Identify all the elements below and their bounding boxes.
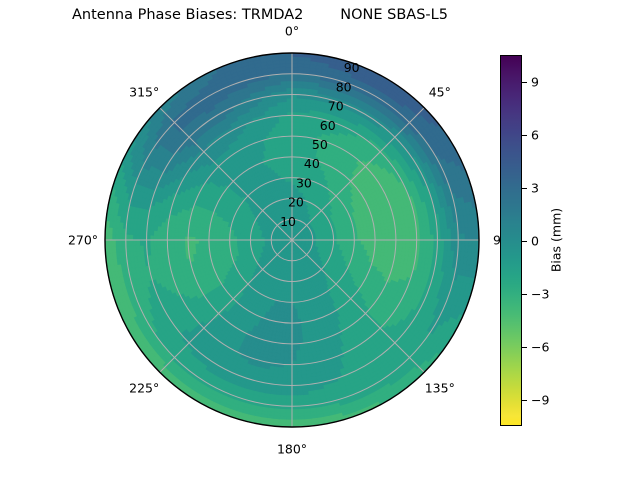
colorbar-tick-label: 9 — [531, 74, 539, 89]
colorbar-tick-label: −6 — [531, 339, 549, 354]
colorbar-tick-mark — [522, 241, 527, 242]
colorbar-tick-mark — [522, 135, 527, 136]
colorbar-gradient — [500, 55, 522, 426]
radial-tick-label: 30 — [296, 175, 312, 190]
polar-plot: 0°45°90135°180°225°270°315° 102030405060… — [0, 0, 640, 480]
colorbar-axis-label: Bias (mm) — [549, 208, 564, 272]
polar-grid — [105, 53, 479, 427]
radial-tick-label: 20 — [288, 195, 304, 210]
colorbar-tick-label: 6 — [531, 127, 539, 142]
radial-tick-label: 70 — [328, 99, 344, 114]
figure-canvas: Antenna Phase Biases: TRMDA2 NONE SBAS-L… — [0, 0, 640, 480]
angular-tick-label: 225° — [129, 380, 159, 395]
angular-tick-label: 135° — [425, 380, 455, 395]
radial-tick-label: 60 — [320, 118, 336, 133]
radial-tick-label: 50 — [312, 137, 328, 152]
radial-tick-label: 90 — [344, 60, 360, 75]
angular-tick-label: 270° — [68, 233, 98, 248]
colorbar-tick-mark — [522, 294, 527, 295]
angular-tick-label: 0° — [285, 24, 299, 39]
radial-tick-label: 40 — [304, 156, 320, 171]
colorbar-tick-label: 0 — [531, 233, 539, 248]
radial-tick-label: 80 — [336, 79, 352, 94]
colorbar[interactable]: 9630−3−6−9 — [500, 55, 522, 426]
angular-tick-label: 45° — [429, 85, 451, 100]
radial-tick-label: 10 — [280, 214, 296, 229]
colorbar-tick-mark — [522, 400, 527, 401]
colorbar-tick-mark — [522, 188, 527, 189]
colorbar-tick-label: −3 — [531, 286, 549, 301]
angular-tick-label: 315° — [129, 85, 159, 100]
colorbar-tick-mark — [522, 347, 527, 348]
colorbar-tick-label: −9 — [531, 392, 549, 407]
angular-tick-label: 180° — [277, 442, 307, 457]
colorbar-tick-mark — [522, 82, 527, 83]
colorbar-tick-label: 3 — [531, 180, 539, 195]
